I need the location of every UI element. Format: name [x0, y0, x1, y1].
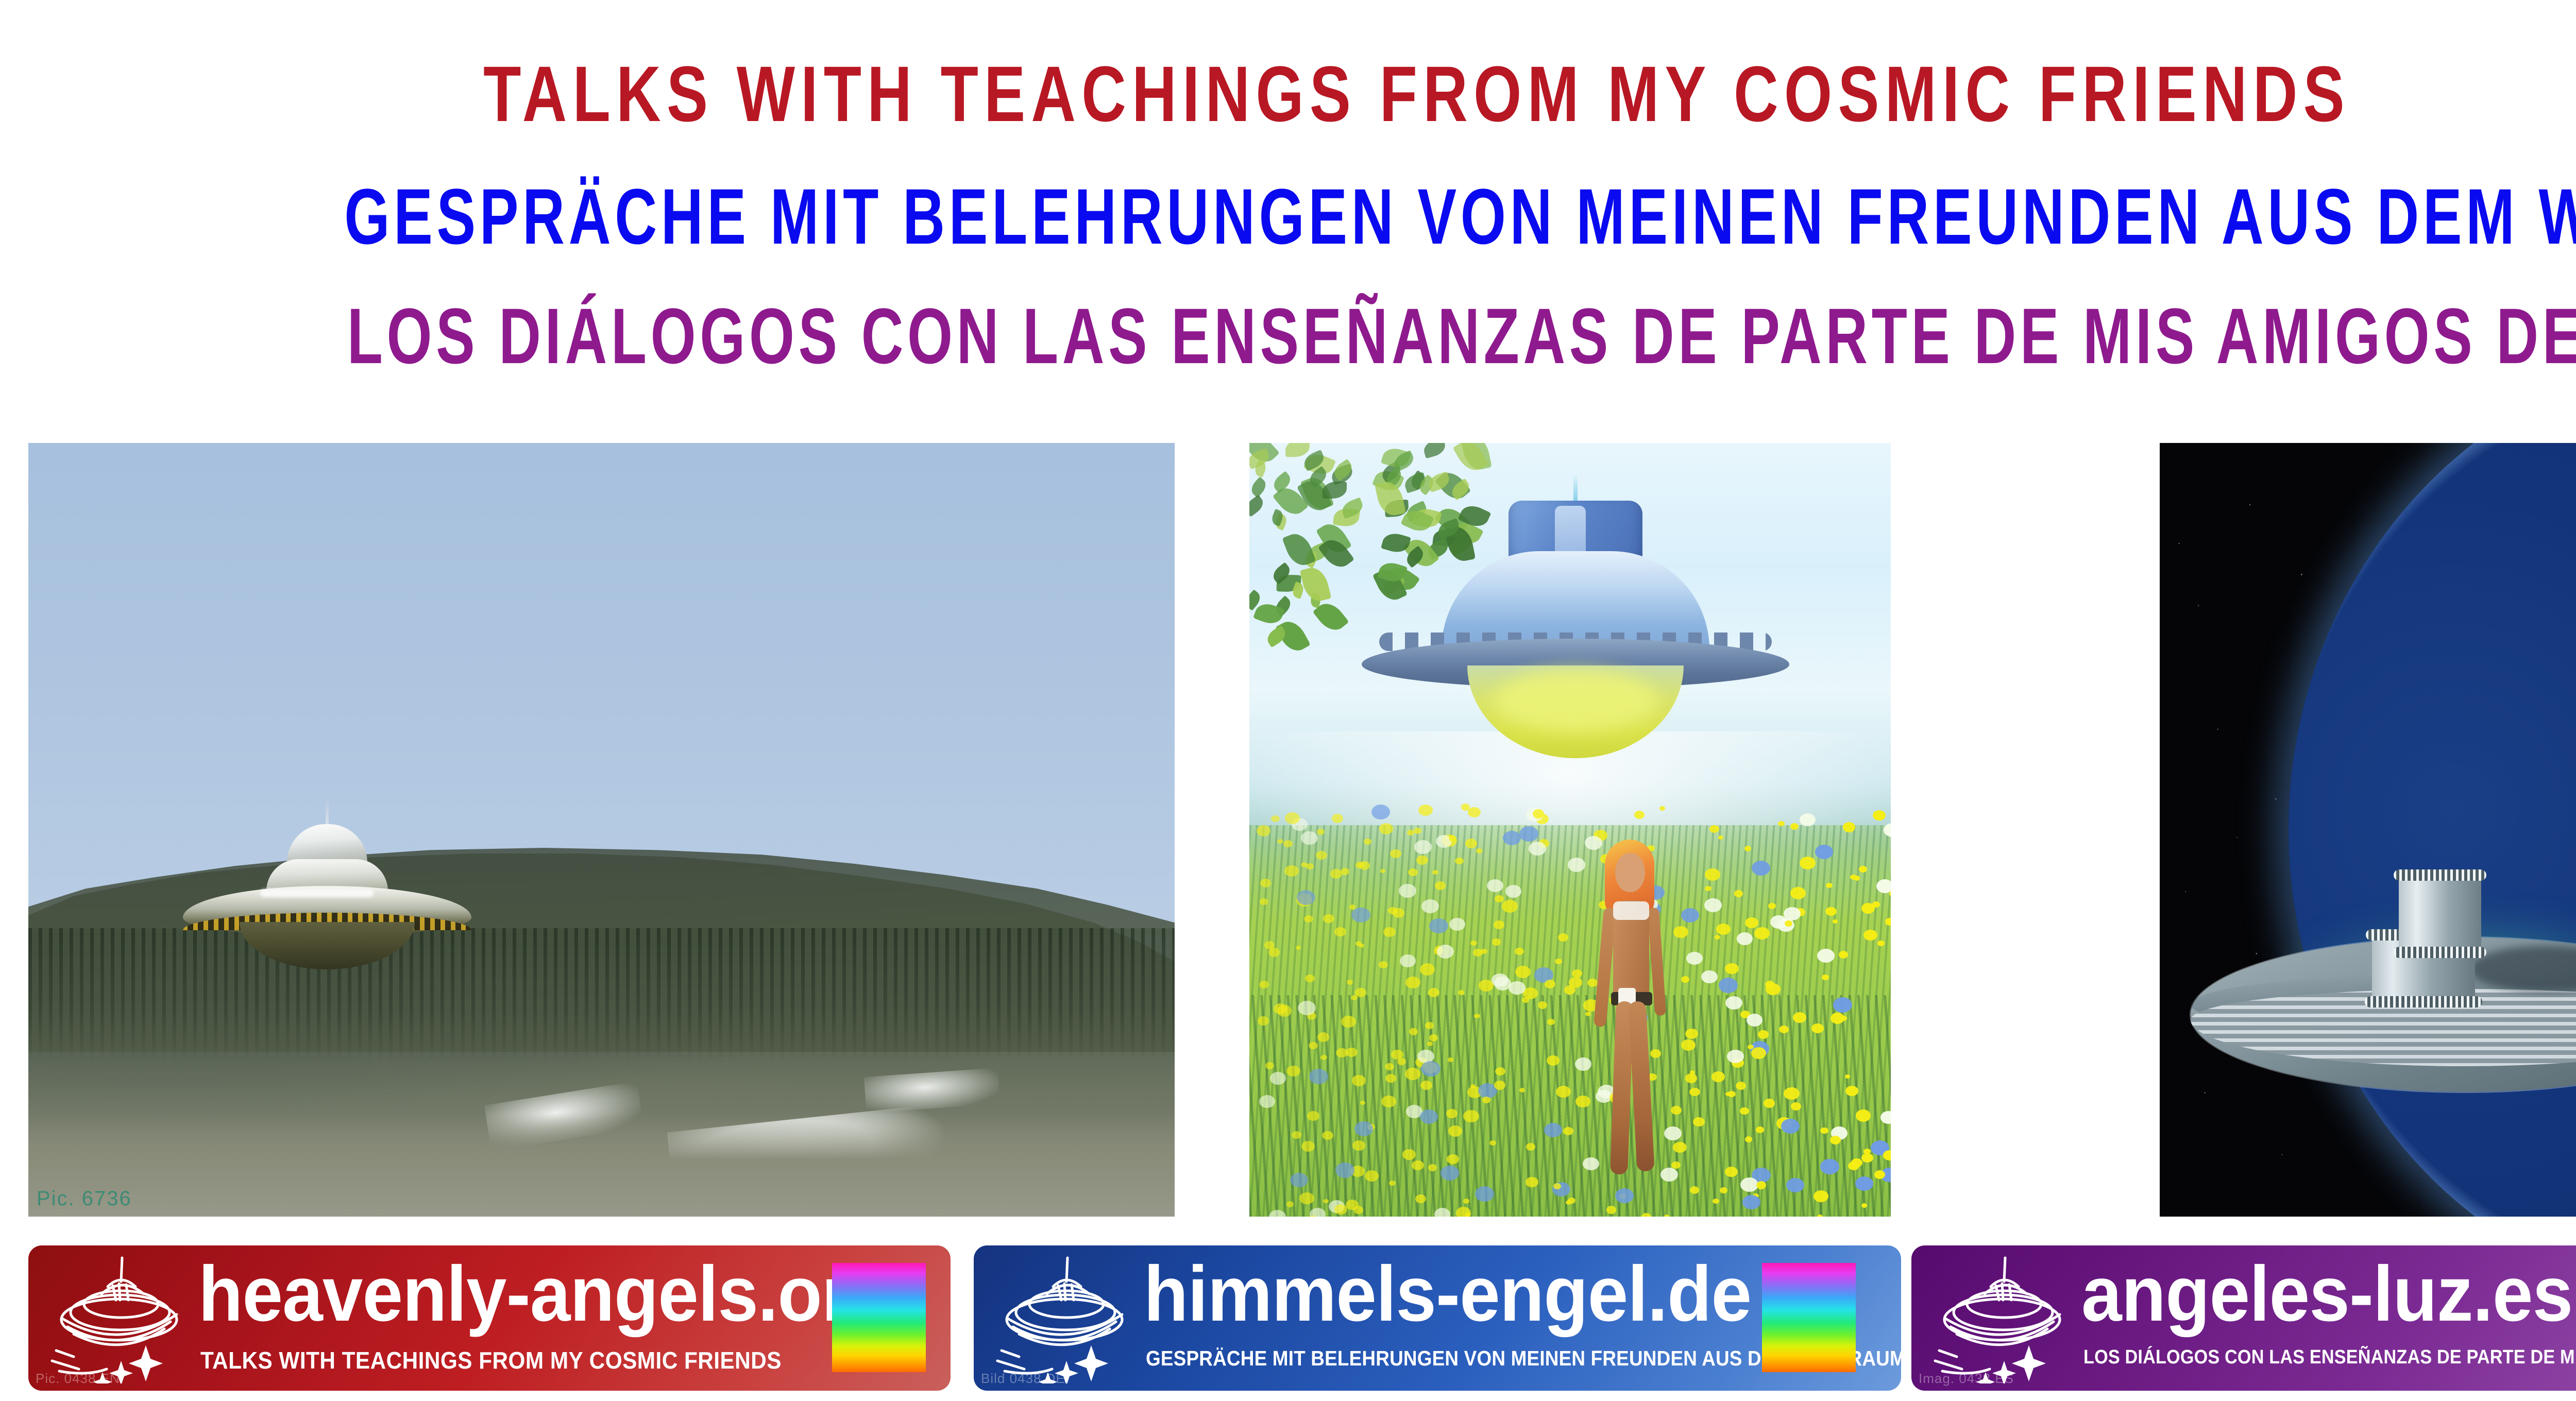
- saucer-craft-icon: [1362, 474, 1789, 742]
- photo-ufo-over-meadow[interactable]: [1249, 443, 1891, 1217]
- banner-heavenly-angels[interactable]: heavenly-angels.org TALKS WITH TEACHINGS…: [28, 1245, 951, 1391]
- page-title-english: TALKS WITH TEACHINGS FROM MY COSMIC FRIE…: [283, 48, 2550, 139]
- disc-craft-icon: [2191, 845, 2576, 1133]
- banner-watermark: Bild 0438 DE: [981, 1371, 1065, 1387]
- page-title-german: GESPRÄCHE MIT BELEHRUNGEN VON MEINEN FRE…: [344, 171, 2489, 262]
- banner-domain-label: himmels-engel.de: [1144, 1255, 1751, 1333]
- saucer-craft-icon: [183, 798, 471, 963]
- banner-watermark: Imag. 0438 ES: [1919, 1371, 2014, 1387]
- banner-domain-label: heavenly-angels.org: [198, 1255, 893, 1333]
- foreground-meadow: [28, 1114, 1175, 1217]
- photo-watermark: Pic. 6736: [37, 1187, 132, 1210]
- rainbow-gradient-swatch: [832, 1263, 926, 1372]
- banner-tagline: LOS DIÁLOGOS CON LAS ENSEÑANZAS DE PARTE…: [2083, 1346, 2576, 1369]
- ufo-saucer-with-stars-icon: [1927, 1255, 2081, 1383]
- page-title-spanish: LOS DIÁLOGOS CON LAS ENSEÑANZAS DE PARTE…: [347, 291, 2487, 381]
- photo-disc-above-earth[interactable]: [2160, 443, 2576, 1217]
- woman-figure: [1579, 840, 1682, 1180]
- rainbow-gradient-swatch: [1762, 1263, 1856, 1372]
- banner-watermark: Pic. 0438 EN: [36, 1371, 120, 1387]
- banner-tagline: TALKS WITH TEACHINGS FROM MY COSMIC FRIE…: [200, 1346, 782, 1374]
- banner-domain-label: angeles-luz.es: [2081, 1255, 2572, 1333]
- ufo-saucer-with-stars-icon: [44, 1255, 198, 1383]
- banner-himmels-engel[interactable]: himmels-engel.de GESPRÄCHE MIT BELEHRUNG…: [974, 1245, 1901, 1391]
- photo-ufo-over-ridge[interactable]: Pic. 6736: [28, 443, 1175, 1217]
- headline-block: TALKS WITH TEACHINGS FROM MY COSMIC FRIE…: [0, 0, 2576, 391]
- banner-angeles-luz[interactable]: angeles-luz.es LOS DIÁLOGOS CON LAS ENSE…: [1911, 1245, 2576, 1391]
- ufo-saucer-with-stars-icon: [989, 1255, 1144, 1383]
